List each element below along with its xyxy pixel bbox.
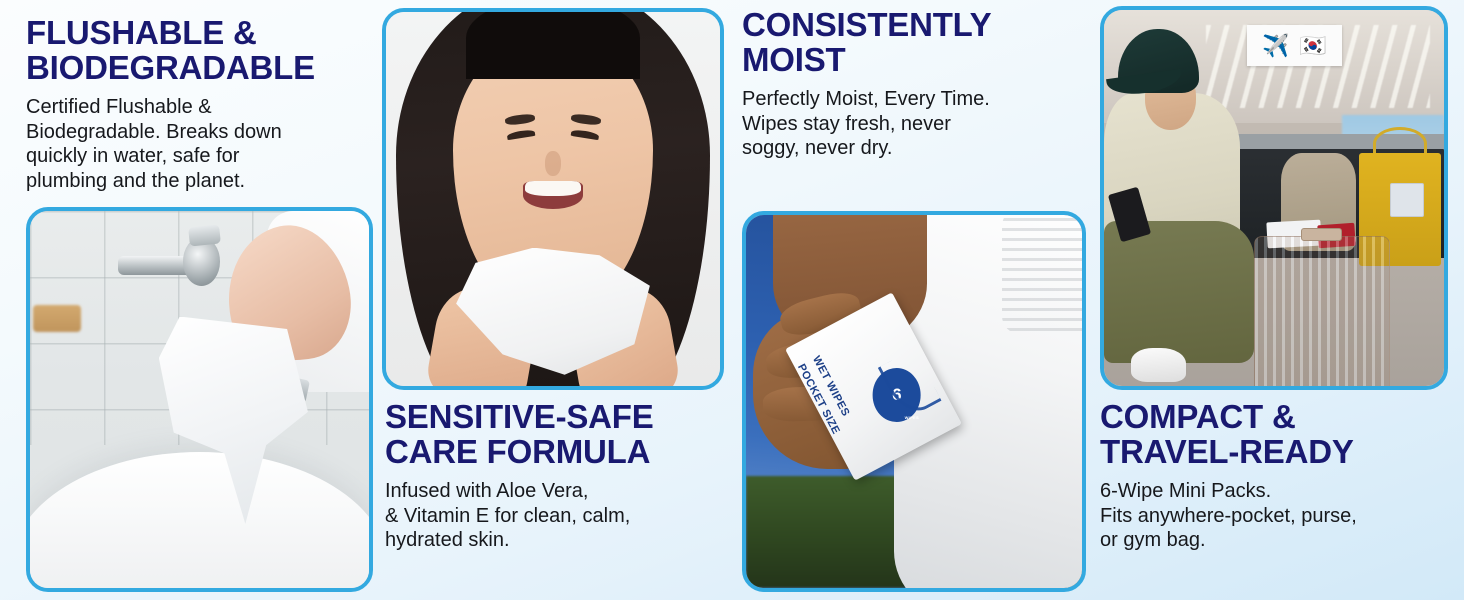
panel-1-body-line1: Certified Flushable & — [26, 95, 376, 120]
panel-2-heading: SENSITIVE-SAFE CARE FORMULA — [385, 400, 735, 470]
korea-flag-icon: 🇰🇷 — [1299, 35, 1326, 57]
panel-4-photo-card: ✈️ 🇰🇷 — [1100, 6, 1448, 390]
eyebrow-right — [571, 113, 602, 125]
rose-gold-suitcase — [1254, 236, 1390, 386]
panel-3-heading-line1: CONSISTENTLY — [742, 8, 1087, 43]
panel-1-heading: FLUSHABLE & BIODEGRADABLE — [26, 16, 376, 86]
panel-1-photo-toilet-flush — [30, 211, 369, 588]
eyebrow-left — [504, 113, 535, 125]
panel-4-body: 6-Wipe Mini Packs. Fits anywhere-pocket,… — [1100, 479, 1460, 553]
panel-1-body-line2: Biodegradable. Breaks down — [26, 120, 376, 145]
panel-4-photo-airport-traveler: ✈️ 🇰🇷 — [1104, 10, 1444, 386]
panel-2-body-line1: Infused with Aloe Vera, — [385, 479, 735, 504]
teeth — [525, 181, 580, 196]
panel-3-body-line3: soggy, never dry. — [742, 136, 1087, 161]
panel-2-body-line2: & Vitamin E for clean, calm, — [385, 504, 735, 529]
feature-panel-consistently-moist: CONSISTENTLY MOIST Perfectly Moist, Ever… — [742, 8, 1087, 161]
eye-right — [571, 129, 600, 140]
panel-2-photo-card — [382, 8, 724, 390]
travel-emoji-overlay: ✈️ 🇰🇷 — [1247, 25, 1342, 66]
panel-1-heading-line2: BIODEGRADABLE — [26, 51, 376, 86]
panel-1-photo-card — [26, 207, 373, 592]
eye-left — [507, 129, 536, 140]
panel-4-body-line2: Fits anywhere-pocket, purse, — [1100, 504, 1460, 529]
tote-bag-patch — [1390, 183, 1424, 217]
wipe-count-label: WIPES — [905, 414, 919, 419]
faucet-spout — [118, 256, 193, 275]
panel-2-body: Infused with Aloe Vera, & Vitamin E for … — [385, 479, 735, 553]
panel-4-heading-line2: TRAVEL-READY — [1100, 435, 1460, 470]
panel-3-body-line2: Wipes stay fresh, never — [742, 112, 1087, 137]
panel-4-heading-line1: COMPACT & — [1100, 400, 1460, 435]
panel-3-photo-pocket-wipes-outdoors: POCKET SIZE WET WIPES 6 WIPES — [746, 215, 1082, 588]
smiling-mouth — [523, 181, 583, 209]
panel-1-body-line3: quickly in water, safe for — [26, 144, 376, 169]
feature-panel-sensitive-safe-care-formula: SENSITIVE-SAFE CARE FORMULA Infused with… — [385, 400, 735, 553]
suitcase-handle — [1301, 228, 1342, 241]
panel-2-body-line3: hydrated skin. — [385, 528, 735, 553]
panel-1-body-line4: plumbing and the planet. — [26, 169, 376, 194]
airplane-icon: ✈️ — [1262, 35, 1289, 57]
garment-ribbing — [1002, 215, 1082, 334]
nose — [545, 151, 561, 176]
panel-3-body-line1: Perfectly Moist, Every Time. — [742, 87, 1087, 112]
feature-panel-flushable-biodegradable: FLUSHABLE & BIODEGRADABLE Certified Flus… — [26, 16, 376, 193]
panel-3-heading-line2: MOIST — [742, 43, 1087, 78]
panel-4-body-line1: 6-Wipe Mini Packs. — [1100, 479, 1460, 504]
sneaker — [1131, 348, 1185, 382]
panel-4-body-line3: or gym bag. — [1100, 528, 1460, 553]
feature-grid: FLUSHABLE & BIODEGRADABLE Certified Flus… — [0, 0, 1464, 600]
traveler-legs — [1104, 221, 1254, 364]
panel-2-photo-woman-wiping-face — [386, 12, 720, 386]
panel-3-body: Perfectly Moist, Every Time. Wipes stay … — [742, 87, 1087, 161]
faucet-handle — [188, 225, 220, 247]
panel-1-heading-line1: FLUSHABLE & — [26, 16, 376, 51]
panel-1-body: Certified Flushable & Biodegradable. Bre… — [26, 95, 376, 193]
wooden-shelf — [33, 305, 80, 331]
hair-part — [466, 12, 640, 79]
panel-4-heading: COMPACT & TRAVEL-READY — [1100, 400, 1460, 470]
panel-3-photo-card: POCKET SIZE WET WIPES 6 WIPES — [742, 211, 1086, 592]
panel-3-heading: CONSISTENTLY MOIST — [742, 8, 1087, 78]
panel-2-heading-line2: CARE FORMULA — [385, 435, 735, 470]
panel-2-heading-line1: SENSITIVE-SAFE — [385, 400, 735, 435]
feature-panel-compact-travel-ready: COMPACT & TRAVEL-READY 6-Wipe Mini Packs… — [1100, 400, 1460, 553]
